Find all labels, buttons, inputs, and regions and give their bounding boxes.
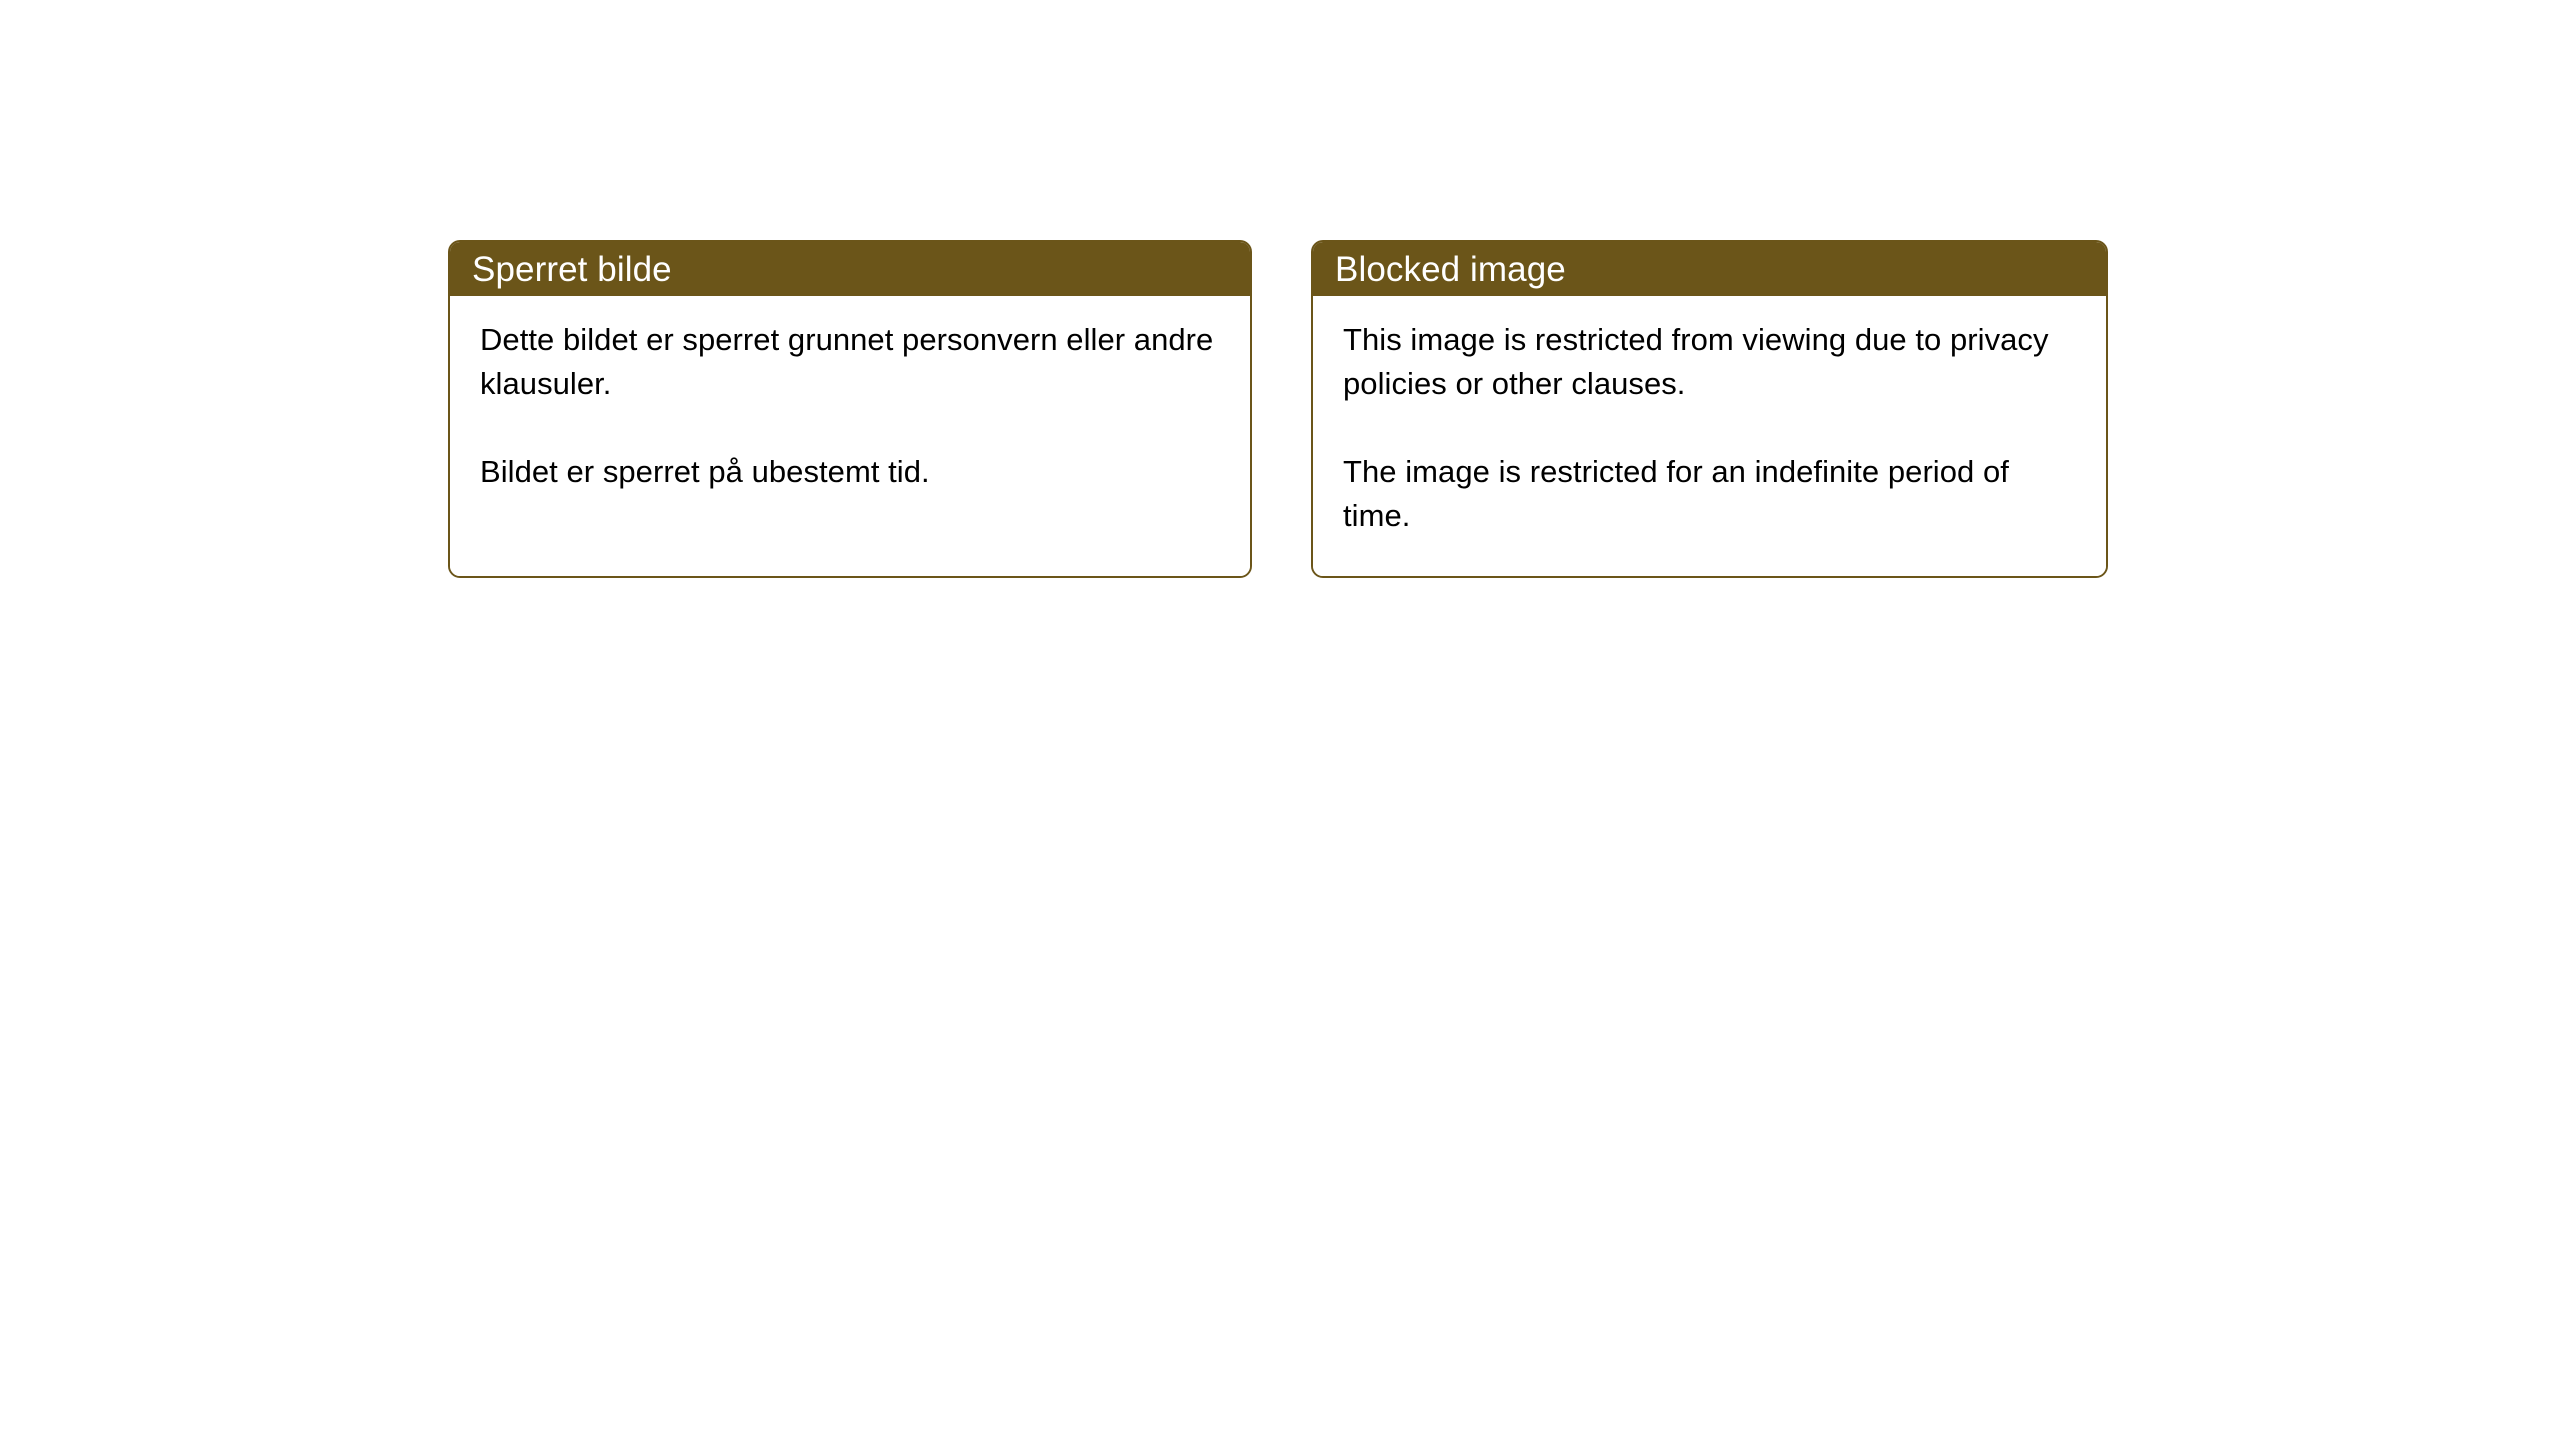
page-canvas: Sperret bilde Dette bildet er sperret gr… [0,0,2560,1440]
card-body-en: This image is restricted from viewing du… [1313,296,2106,576]
card-header-en: Blocked image [1313,242,2106,296]
card-paragraph-duration-en: The image is restricted for an indefinit… [1343,450,2080,538]
blocked-image-notice-card-en: Blocked image This image is restricted f… [1311,240,2108,578]
card-header-no: Sperret bilde [450,242,1250,296]
blocked-image-notice-card-no: Sperret bilde Dette bildet er sperret gr… [448,240,1252,578]
card-paragraph-duration-no: Bildet er sperret på ubestemt tid. [480,450,1224,494]
card-paragraph-reason-en: This image is restricted from viewing du… [1343,318,2080,406]
card-paragraph-reason-no: Dette bildet er sperret grunnet personve… [480,318,1224,406]
card-title-no: Sperret bilde [472,252,672,287]
card-body-no: Dette bildet er sperret grunnet personve… [450,296,1250,576]
card-title-en: Blocked image [1335,252,1566,287]
